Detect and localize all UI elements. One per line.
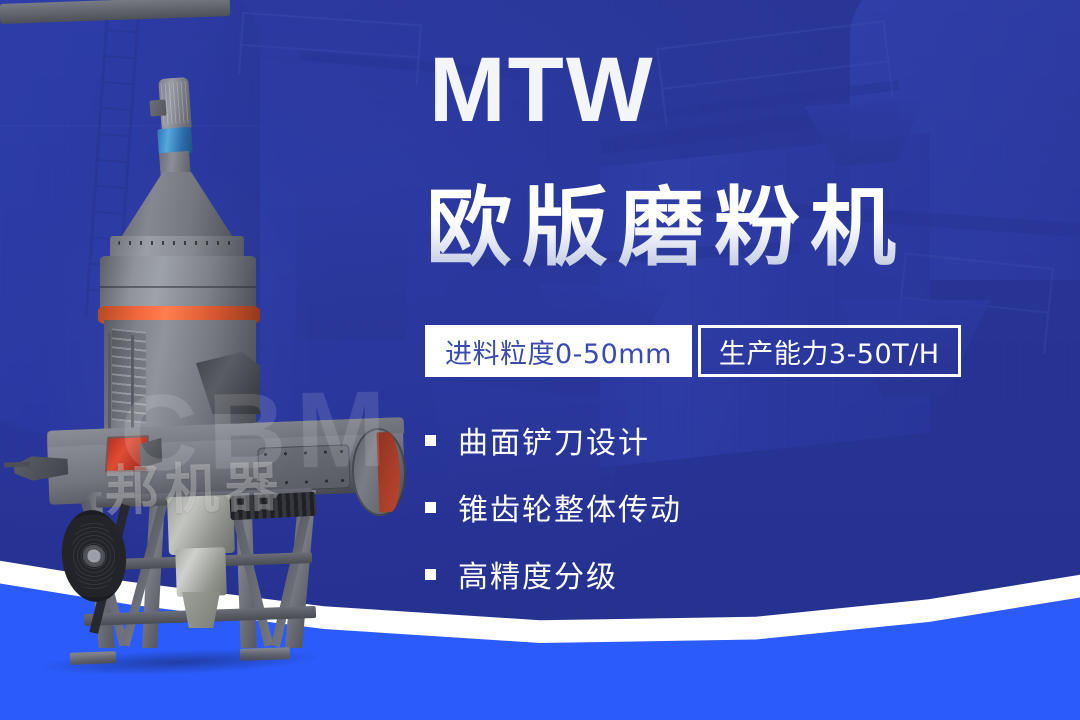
- part-cone-collar: [110, 236, 244, 258]
- watermark-text: 邦机器: [102, 388, 405, 526]
- list-item: 锥齿轮整体传动: [425, 485, 682, 529]
- spec-badge-feed-size: 进料粒度0-50mm: [425, 325, 692, 377]
- list-item: 曲面铲刀设计: [425, 418, 682, 462]
- page-title-cn: 欧版磨粉机: [426, 180, 906, 276]
- square-bullet-icon: [425, 502, 436, 513]
- product-image-grinding-mill: [0, 0, 420, 700]
- part-upper-drum: [100, 256, 256, 312]
- square-bullet-icon: [425, 569, 436, 580]
- page-title-en: MTW: [429, 44, 655, 136]
- product-ground-shadow: [40, 645, 321, 679]
- promo-banner: CBM 邦机器 MTW 欧版磨粉机 进料粒度0-50mm 生产能力3-50T/H…: [0, 0, 1080, 720]
- part-motor-junction-box: [149, 99, 166, 116]
- feature-list: 曲面铲刀设计 锥齿轮整体传动 高精度分级: [425, 418, 682, 596]
- feature-label: 曲面铲刀设计: [458, 418, 650, 462]
- part-base-plinth: [0, 0, 230, 24]
- feature-label: 锥齿轮整体传动: [458, 485, 682, 529]
- part-classifier-cone: [118, 172, 236, 242]
- list-item: 高精度分级: [425, 552, 682, 596]
- spec-badge-capacity: 生产能力3-50T/H: [698, 325, 961, 377]
- spec-badges: 进料粒度0-50mm 生产能力3-50T/H: [425, 325, 961, 377]
- feature-label: 高精度分级: [458, 552, 618, 596]
- part-discharge-outlet: [182, 592, 220, 628]
- part-cone-rivets: [118, 241, 234, 245]
- content-column: MTW 欧版磨粉机 进料粒度0-50mm 生产能力3-50T/H 曲面铲刀设计 …: [420, 0, 1080, 720]
- part-drum-seam: [100, 286, 256, 288]
- square-bullet-icon: [425, 435, 436, 446]
